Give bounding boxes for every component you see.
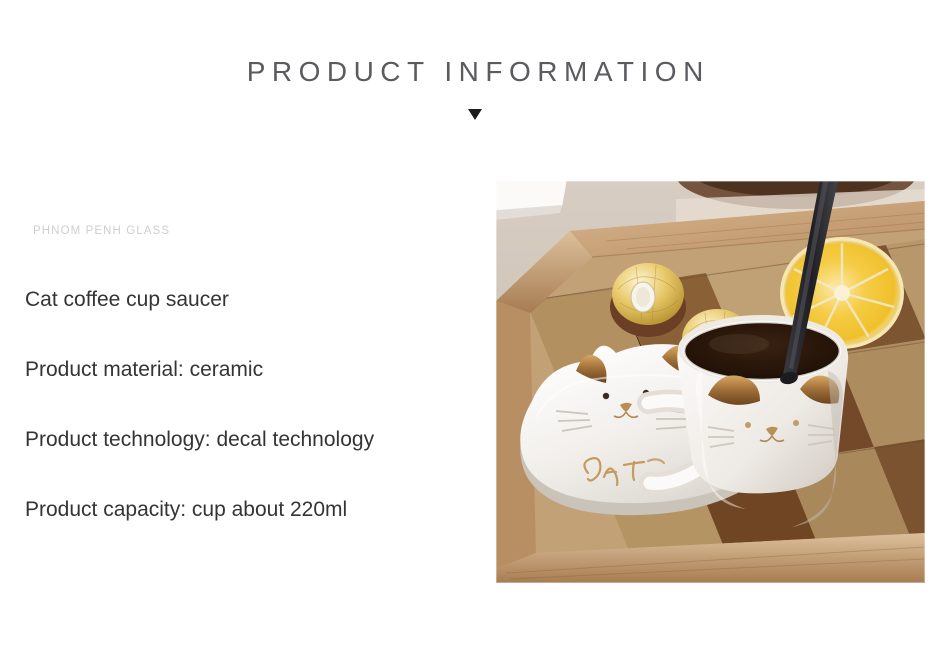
product-name: Cat coffee cup saucer — [25, 289, 495, 310]
section-divider-marker — [0, 109, 950, 120]
spec-material: Product material: ceramic — [25, 359, 495, 380]
spec-list: Cat coffee cup saucer Product material: … — [25, 289, 495, 520]
cup-eye-left — [745, 422, 751, 428]
page-header: PRODUCT INFORMATION — [0, 0, 950, 120]
brand-label: PHNOM PENH GLASS — [33, 225, 495, 237]
gold-wrapped-chocolate — [610, 263, 686, 337]
spec-capacity: Product capacity: cup about 220ml — [25, 499, 495, 520]
product-photo — [496, 181, 925, 583]
triangle-down-icon — [468, 109, 482, 120]
product-photo-illustration — [496, 181, 925, 583]
saucer-eye-left — [603, 393, 609, 399]
cup-eye-right — [793, 420, 799, 426]
page-title: PRODUCT INFORMATION — [0, 58, 950, 86]
product-information-page: PRODUCT INFORMATION PHNOM PENH GLASS Cat… — [0, 0, 950, 652]
product-details: PHNOM PENH GLASS Cat coffee cup saucer P… — [25, 225, 495, 520]
spec-technology: Product technology: decal technology — [25, 429, 495, 450]
